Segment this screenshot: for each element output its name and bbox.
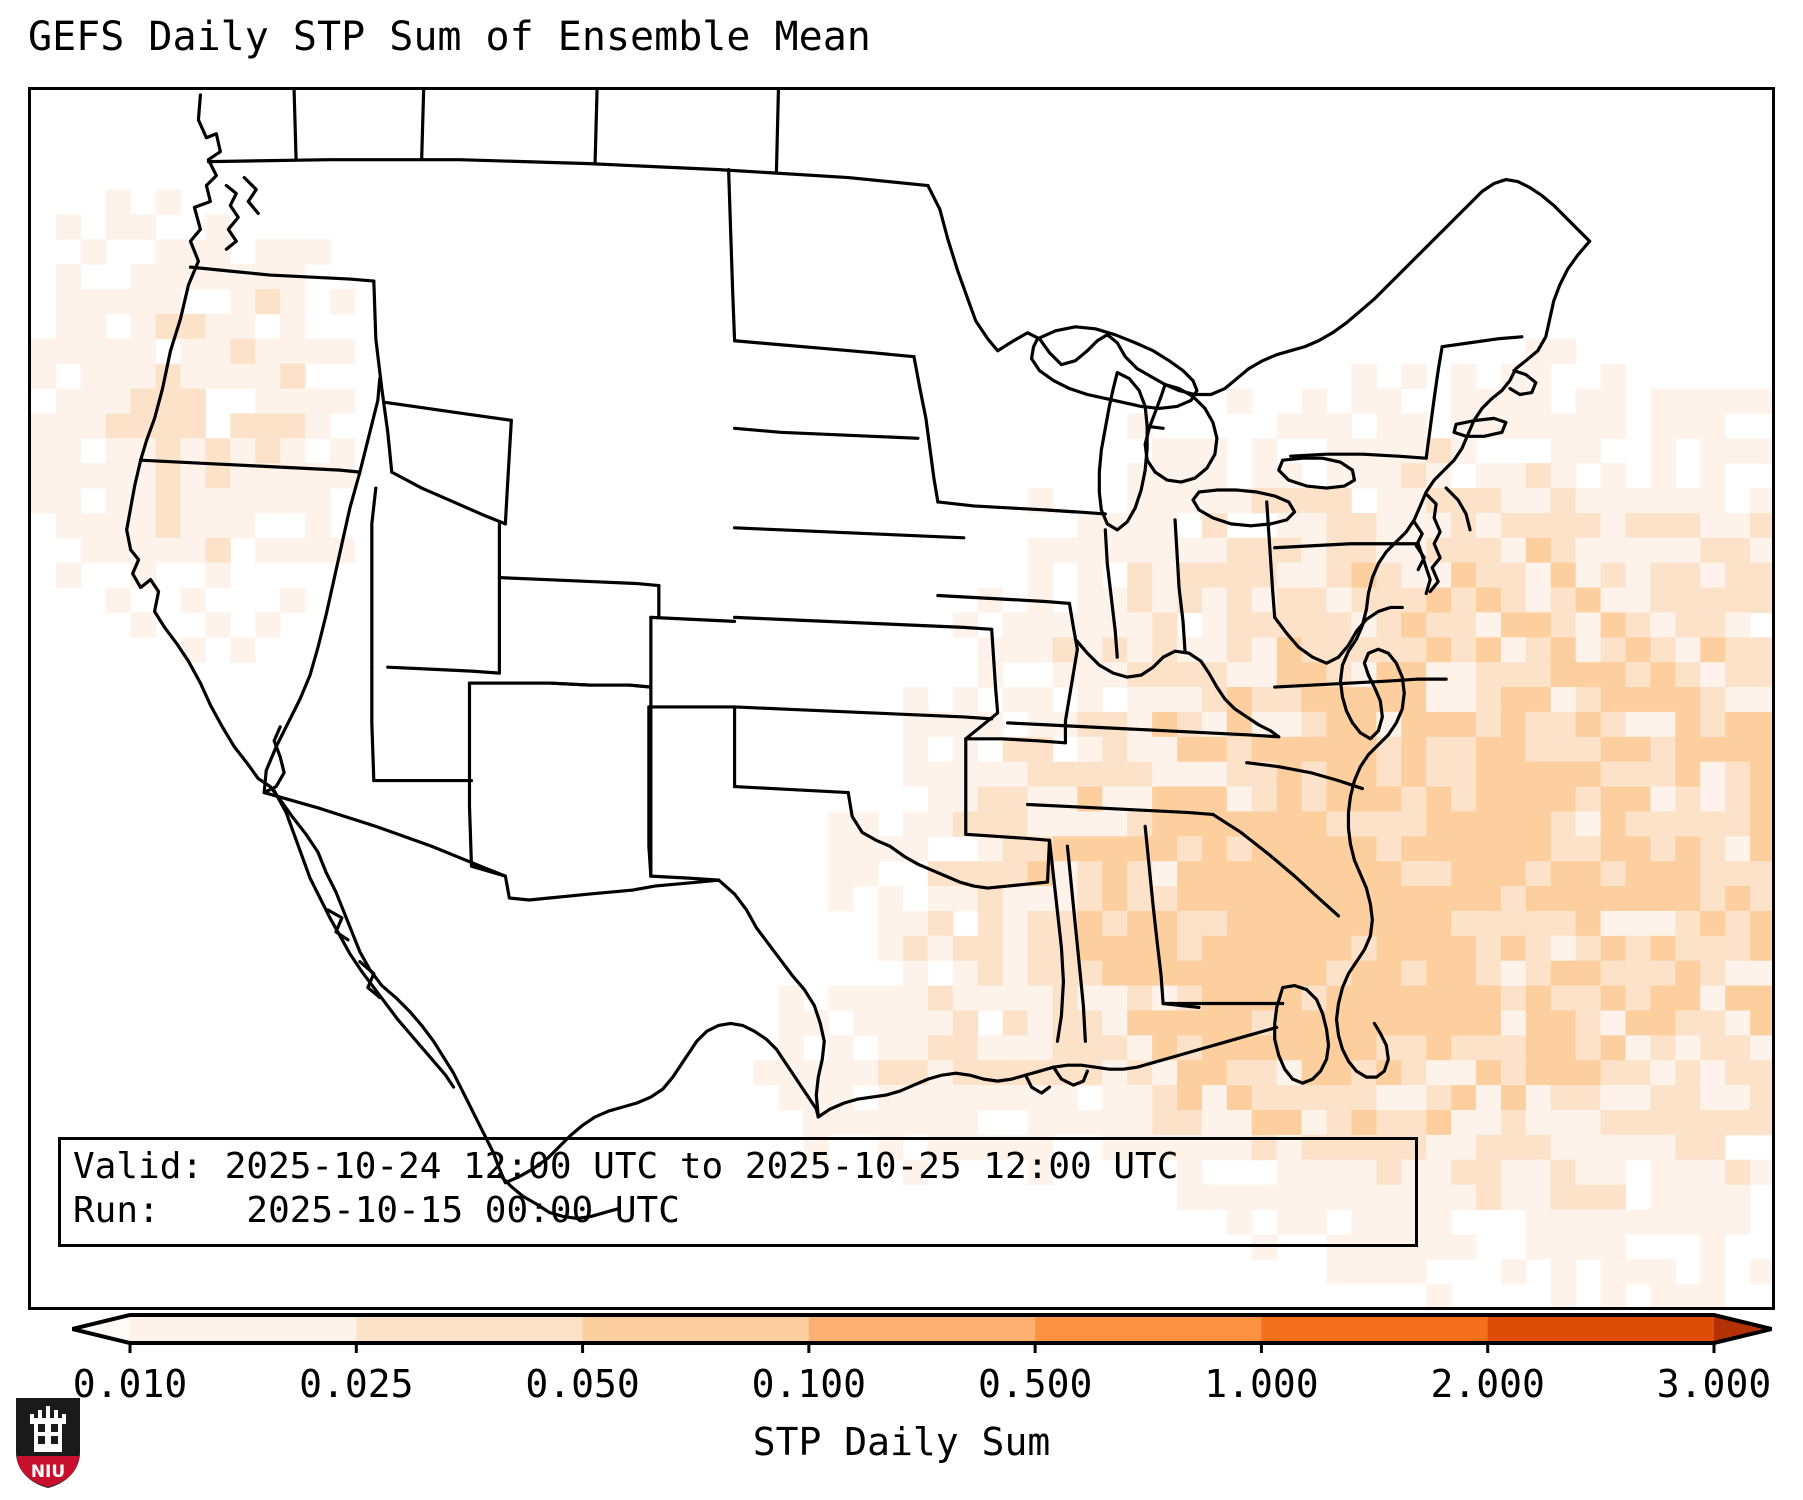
stp-grid-cell [1501,1085,1526,1110]
stp-grid-cell [1476,1010,1501,1035]
stp-grid-cell [1576,413,1601,438]
stp-grid-cell [1551,1035,1576,1060]
stp-grid-cell [778,1085,803,1110]
stp-grid-cell [953,961,978,986]
stp-grid-cell [1750,389,1772,414]
stp-grid-cell [1650,1160,1675,1185]
stp-grid-cell [1152,886,1177,911]
stp-grid-cell [1277,911,1302,936]
stp-grid-cell [180,339,205,364]
stp-grid-cell [1028,911,1053,936]
stp-grid-cell [878,1010,903,1035]
stp-grid-cell [1675,961,1700,986]
stp-grid-cell [1277,563,1302,588]
stp-grid-cell [255,289,280,314]
stp-grid-cell [1551,886,1576,911]
stp-grid-cell [1426,1284,1451,1307]
stp-grid-cell [56,438,81,463]
stp-grid-cell [1725,811,1750,836]
stp-grid-cell [1650,712,1675,737]
stp-grid-cell [1526,612,1551,637]
stp-grid-cell [1102,986,1127,1011]
stp-grid-cell [1102,1085,1127,1110]
stp-grid-cell [1650,637,1675,662]
stp-grid-cell [180,513,205,538]
stp-grid-cell [1227,538,1252,563]
stp-grid-cell [230,314,255,339]
stp-grid-cell [1626,538,1651,563]
stp-grid-cell [1700,1234,1725,1259]
stp-grid-cell [1302,588,1327,613]
stp-grid-cell [1675,1160,1700,1185]
stp-grid-cell [1501,563,1526,588]
stp-grid-cell [1451,563,1476,588]
stp-grid-cell [1601,588,1626,613]
stp-grid-cell [1626,1135,1651,1160]
stp-grid-cell [1202,563,1227,588]
stp-grid-cell [1327,861,1352,886]
colorbar-segment [809,1315,1036,1343]
stp-grid-cell [1451,961,1476,986]
stp-grid-cell [255,538,280,563]
stp-grid-cell [1750,1160,1772,1185]
stp-grid-cell [1725,637,1750,662]
stp-grid-cell [1003,612,1028,637]
stp-grid-cell [1376,737,1401,762]
stp-grid-cell [1725,787,1750,812]
stp-grid-cell [1177,911,1202,936]
stp-grid-cell [1202,787,1227,812]
stp-grid-cell [1601,1209,1626,1234]
stp-grid-cell [1526,488,1551,513]
stp-grid-cell [156,413,181,438]
stp-grid-cell [1327,737,1352,762]
stp-grid-cell [1227,1060,1252,1085]
stp-grid-cell [1102,886,1127,911]
stp-grid-cell [106,190,131,215]
stp-grid-cell [928,986,953,1011]
stp-grid-cell [1426,612,1451,637]
stp-grid-cell [1177,538,1202,563]
stp-grid-cell [1501,1110,1526,1135]
stp-grid-cell [1252,538,1277,563]
stp-grid-cell [1725,438,1750,463]
stp-grid-cell [1675,1110,1700,1135]
stp-grid-cell [1725,612,1750,637]
stp-grid-cell [1675,488,1700,513]
stp-grid-cell [1401,612,1426,637]
stp-grid-cell [1028,637,1053,662]
stp-grid-cell [1526,737,1551,762]
stp-grid-cell [1052,538,1077,563]
stp-grid-cell [1700,438,1725,463]
stp-grid-cell [330,339,355,364]
stp-grid-cell [56,339,81,364]
stp-grid-cell [1501,612,1526,637]
stp-grid-cell [1576,1010,1601,1035]
stp-grid-cell [1052,836,1077,861]
stp-grid-cell [1501,811,1526,836]
stp-grid-cell [1626,961,1651,986]
stp-grid-cell [180,588,205,613]
colorbar-axis-label: STP Daily Sum [0,1420,1803,1464]
stp-grid-cell [1725,1209,1750,1234]
stp-grid-cell [156,538,181,563]
stp-grid-cell [1476,787,1501,812]
stp-grid-cell [1501,712,1526,737]
stp-grid-cell [1302,886,1327,911]
stp-grid-cell [280,289,305,314]
stp-grid-cell [978,1085,1003,1110]
stp-grid-cell [928,911,953,936]
stp-grid-cell [1127,637,1152,662]
stp-grid-cell [1102,911,1127,936]
stp-grid-cell [1252,911,1277,936]
stp-grid-cell [1127,612,1152,637]
stp-grid-cell [1177,936,1202,961]
stp-grid-cell [1576,687,1601,712]
stp-grid-cell [1102,1035,1127,1060]
stp-grid-cell [903,1010,928,1035]
stp-grid-cell [1202,1060,1227,1085]
stp-grid-cell [1526,1010,1551,1035]
stp-grid-cell [1451,364,1476,389]
stp-grid-cell [1601,687,1626,712]
stp-grid-cell [305,538,330,563]
stp-grid-cell [1601,1160,1626,1185]
stp-grid-cell [1675,712,1700,737]
stp-grid-cell [305,413,330,438]
stp-grid-cell [1576,936,1601,961]
stp-grid-cell [1351,513,1376,538]
stp-grid-cell [1700,1135,1725,1160]
stp-grid-cell [255,239,280,264]
stp-grid-cell [1152,762,1177,787]
stp-grid-cell [1426,911,1451,936]
stp-grid-cell [1277,811,1302,836]
stp-grid-cell [1052,936,1077,961]
stp-grid-cell [878,1110,903,1135]
stp-grid-cell [1127,986,1152,1011]
stp-grid-cell [1476,687,1501,712]
stp-grid-cell [1102,1010,1127,1035]
stp-grid-cell [1376,612,1401,637]
stp-grid-cell [903,911,928,936]
stp-grid-cell [230,339,255,364]
stp-grid-cell [1675,1060,1700,1085]
stp-grid-cell [1725,687,1750,712]
stp-grid-cell [1351,463,1376,488]
stp-grid-cell [1601,737,1626,762]
niu-logo-text: NIU [31,1462,65,1482]
stp-grid-cell [1102,1060,1127,1085]
stp-grid-cell [1626,662,1651,687]
stp-grid-cell [1576,911,1601,936]
stp-grid-cell [1202,961,1227,986]
stp-grid-cell [1451,762,1476,787]
stp-grid-cell [1426,1160,1451,1185]
stp-grid-cell [1476,861,1501,886]
stp-grid-cell [1601,1234,1626,1259]
run-time-line: Run: 2025-10-15 00:00 UTC [73,1190,680,1231]
stp-grid-cell [928,1085,953,1110]
stp-grid-cell [1725,986,1750,1011]
stp-grid-cell [903,1110,928,1135]
stp-grid-cell [1252,687,1277,712]
stp-grid-cell [928,886,953,911]
stp-grid-cell [978,762,1003,787]
stp-grid-cell [1551,513,1576,538]
stp-grid-cell [1376,811,1401,836]
stp-grid-cell [1501,986,1526,1011]
stp-grid-cell [1675,762,1700,787]
stp-grid-cell [1152,538,1177,563]
stp-grid-cell [1650,1209,1675,1234]
stp-grid-cell [1401,1060,1426,1085]
stp-grid-cell [1376,861,1401,886]
stp-grid-cell [1576,811,1601,836]
stp-grid-cell [1451,662,1476,687]
stp-grid-cell [1376,1085,1401,1110]
stp-grid-cell [1426,1185,1451,1210]
stp-grid-cell [1725,1010,1750,1035]
stp-grid-cell [1302,1035,1327,1060]
stp-grid-cell [953,886,978,911]
stp-grid-cell [928,936,953,961]
stp-grid-cell [1576,588,1601,613]
stp-grid-cell [1127,463,1152,488]
stp-grid-cell [1601,1185,1626,1210]
stp-grid-cell [1003,911,1028,936]
stp-grid-cell [1077,886,1102,911]
stp-grid-cell [1675,1185,1700,1210]
stp-grid-cell [1227,936,1252,961]
stp-grid-cell [1277,787,1302,812]
stp-grid-cell [280,364,305,389]
stp-grid-cell [1601,389,1626,414]
colorbar-tick-labels: 0.0100.0250.0500.1000.5001.0002.0003.000 [0,1362,1803,1412]
stp-grid-cell [255,389,280,414]
stp-grid-cell [1675,836,1700,861]
stp-grid-cell [1003,1085,1028,1110]
stp-grid-cell [1351,1060,1376,1085]
stp-grid-cell [1650,762,1675,787]
stp-grid-cell [1700,662,1725,687]
stp-grid-cell [1551,612,1576,637]
stp-grid-cell [1526,1209,1551,1234]
stp-grid-cell [1501,1010,1526,1035]
stp-grid-cell [1102,712,1127,737]
stp-grid-cell [1152,787,1177,812]
stp-grid-cell [31,488,56,513]
stp-grid-cell [1152,961,1177,986]
stp-grid-cell [1626,762,1651,787]
stp-grid-cell [1127,886,1152,911]
stp-grid-cell [1526,563,1551,588]
stp-grid-cell [1601,563,1626,588]
stp-grid-cell [131,289,156,314]
stp-grid-cell [1576,762,1601,787]
stp-grid-cell [1252,463,1277,488]
stp-grid-cell [1451,861,1476,886]
stp-grid-cell [1077,1110,1102,1135]
stp-grid-cell [1725,911,1750,936]
stp-grid-cell [1327,588,1352,613]
stp-grid-cell [1102,861,1127,886]
stp-grid-cell [81,389,106,414]
stp-grid-cell [255,364,280,389]
stp-grid-cell [1252,737,1277,762]
stp-grid-cell [1526,513,1551,538]
stp-grid-cell [1127,588,1152,613]
stp-grid-cell [1401,413,1426,438]
stp-grid-cell [1650,1259,1675,1284]
stp-grid-cell [1551,662,1576,687]
stp-grid-cell [1277,936,1302,961]
stp-grid-cell [853,986,878,1011]
stp-grid-cell [1277,1110,1302,1135]
stp-grid-cell [1601,861,1626,886]
colorbar-over-arrow [1714,1315,1772,1343]
stp-grid-cell [978,936,1003,961]
stp-grid-cell [1501,787,1526,812]
stp-grid-cell [1576,662,1601,687]
stp-grid-cell [1451,687,1476,712]
stp-grid-cell [1202,1085,1227,1110]
stp-grid-cell [1202,637,1227,662]
stp-grid-cell [1700,712,1725,737]
stp-grid-cell [1476,513,1501,538]
stp-grid-cell [878,886,903,911]
stp-grid-cell [106,364,131,389]
colorbar-tick-label: 0.100 [752,1362,866,1406]
stp-grid-cell [1601,836,1626,861]
stp-grid-cell [1152,463,1177,488]
stp-grid-cell [1476,488,1501,513]
stp-grid-cell [878,911,903,936]
stp-grid-cell [1376,563,1401,588]
stp-grid-cell [1028,787,1053,812]
stp-grid-cell [1700,911,1725,936]
stp-grid-cell [1750,712,1772,737]
stp-grid-cell [1650,538,1675,563]
stp-grid-cell [305,463,330,488]
colorbar-tick-label: 2.000 [1431,1362,1545,1406]
stp-grid-cell [1426,1085,1451,1110]
stp-grid-cell [280,413,305,438]
stp-grid-cell [280,314,305,339]
stp-grid-cell [1451,986,1476,1011]
stp-grid-cell [1077,588,1102,613]
stp-grid-cell [1426,1234,1451,1259]
valid-time-line: Valid: 2025-10-24 12:00 UTC to 2025-10-2… [73,1146,1178,1187]
stp-grid-cell [180,413,205,438]
stp-grid-cell [1052,1010,1077,1035]
stp-grid-cell [1177,438,1202,463]
stp-grid-cell [280,588,305,613]
stp-grid-cell [1675,1035,1700,1060]
stp-grid-cell [1551,1060,1576,1085]
stp-grid-cell [1152,737,1177,762]
stp-grid-cell [1750,1085,1772,1110]
stp-grid-cell [1750,1010,1772,1035]
stp-grid-cell [1501,762,1526,787]
stp-grid-cell [1351,438,1376,463]
stp-grid-cell [1302,861,1327,886]
stp-grid-cell [978,662,1003,687]
stp-grid-cell [828,1035,853,1060]
stp-grid-cell [1501,538,1526,563]
stp-grid-cell [1725,513,1750,538]
stp-grid-cell [1601,538,1626,563]
stp-grid-cell [1526,911,1551,936]
stp-grid-cell [1003,787,1028,812]
colorbar-canvas [72,1309,1772,1353]
stp-grid-cell [1675,986,1700,1011]
stp-grid-cell [1401,637,1426,662]
stp-grid-cell [1028,1035,1053,1060]
stp-grid-cell [1401,1110,1426,1135]
stp-grid-cell [1675,886,1700,911]
colorbar-tick-label: 0.050 [525,1362,639,1406]
stp-grid-cell [1401,861,1426,886]
stp-grid-cell [1551,1110,1576,1135]
stp-grid-cell [1003,986,1028,1011]
stp-grid-cell [1476,712,1501,737]
stp-grid-cell [56,314,81,339]
stp-grid-cell [1700,961,1725,986]
stp-grid-cell [1376,463,1401,488]
stp-grid-cell [1401,588,1426,613]
stp-grid-cell [1202,463,1227,488]
stp-grid-cell [1576,389,1601,414]
stp-grid-cell [1277,413,1302,438]
stp-grid-cell [1601,787,1626,812]
stp-grid-cell [803,1060,828,1085]
stp-grid-cell [903,961,928,986]
stp-grid-cell [1501,886,1526,911]
stp-grid-cell [1750,1259,1772,1284]
stp-grid-cell [1551,1234,1576,1259]
stp-grid-cell [1376,513,1401,538]
stp-grid-cell [1127,1085,1152,1110]
stp-grid-cell [1152,438,1177,463]
stp-grid-cell [928,1035,953,1060]
stp-grid-cell [1401,986,1426,1011]
stp-grid-cell [1626,911,1651,936]
stp-grid-cell [1700,1160,1725,1185]
stp-grid-cell [1551,687,1576,712]
stp-grid-cell [1426,637,1451,662]
stp-grid-cell [205,214,230,239]
stp-grid-cell [1725,1110,1750,1135]
colorbar-tick-label: 3.000 [1657,1362,1771,1406]
colorbar [72,1309,1772,1353]
stp-grid-cell [1626,1259,1651,1284]
stp-grid-cell [1302,612,1327,637]
stp-grid-cell [1650,1035,1675,1060]
stp-grid-cell [1376,787,1401,812]
stp-grid-cell [1675,612,1700,637]
stp-grid-cell [1177,662,1202,687]
stp-grid-cell [978,811,1003,836]
stp-grid-cell [953,1110,978,1135]
stp-grid-cell [31,463,56,488]
stp-grid-cell [1576,1185,1601,1210]
stp-grid-cell [1127,1035,1152,1060]
stp-grid-cell [828,986,853,1011]
stp-grid-cell [828,1060,853,1085]
